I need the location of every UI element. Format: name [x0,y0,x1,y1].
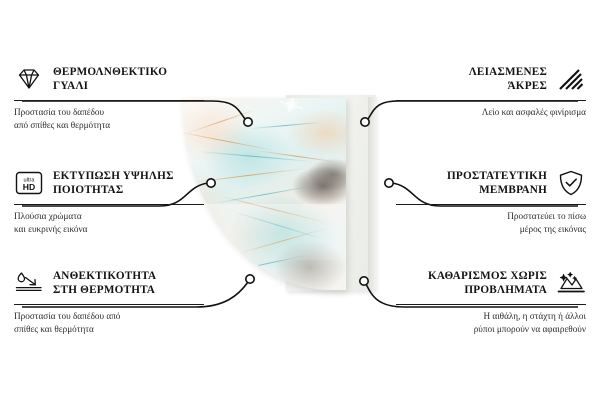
feature-subtitle: Πλούσια χρώματα και ευκρινής εικόνα [14,210,204,234]
feature-header: ΘΕΡΜΟΛΝΘΕΚΤΙΚΟ ΓΥΑΛΙ [14,62,204,96]
infographic-canvas: ΘΕΡΜΟΛΝΘΕΚΤΙΚΟ ΓΥΑΛΙ Προστασία του δαπέδ… [0,0,600,400]
feature-subtitle: Προστασία του δαπέδου από σπίθες και θερ… [14,310,204,334]
diagonal-lines-icon [556,64,586,94]
sparkle-clean-icon [556,268,586,298]
feature-header: ΑΝΘΕΚΤΙΚΟΤΗΤΑ ΣΤΗ ΘΕΡΜΟΤΗΤΑ [14,266,204,300]
feature-subtitle: Λείο και ασφαλές φινίρισμα [396,106,586,118]
feature-trouble-free-cleaning: ΚΑΘΑΡΙΣΜΟΣ ΧΩΡΙΣ ΠΡΟΒΛΗΜΑΤΑ Η αιθάλη, η … [396,266,586,335]
feature-title: ΕΚΤΥΠΩΣΗ ΥΨΗΛΗΣ ΠΟΙΟΤΗΤΑΣ [53,169,174,198]
diamond-icon [14,64,44,94]
feature-divider [396,100,586,101]
feature-subtitle: Προστασία του δαπέδου από σπίθες και θερ… [14,106,204,130]
feature-divider [14,100,204,101]
feature-heat-resistance: ΑΝΘΕΚΤΙΚΟΤΗΤΑ ΣΤΗ ΘΕΡΜΟΤΗΤΑ Προστασία το… [14,266,204,335]
feature-divider [396,304,586,305]
feature-polished-edges: ΛΕΙΑΣΜΕΝΕΣ ΆΚΡΕΣ Λείο και ασφαλές φινίρι… [396,62,586,119]
feature-protective-membrane: ΠΡΟΣΤΑΤΕΥΤΙΚΗ ΜΕΜΒΡΑΝΗ Προστατεύει το πί… [396,166,586,235]
feature-header: ΚΑΘΑΡΙΣΜΟΣ ΧΩΡΙΣ ΠΡΟΒΛΗΜΑΤΑ [396,266,586,300]
feature-divider [14,304,204,305]
feature-header: ΛΕΙΑΣΜΕΝΕΣ ΆΚΡΕΣ [396,62,586,96]
feature-subtitle: Προστατεύει το πίσω μέρος της εικόνας [396,210,586,234]
feature-thermal-resistant-glass: ΘΕΡΜΟΛΝΘΕΚΤΙΚΟ ΓΥΑΛΙ Προστασία του δαπέδ… [14,62,204,131]
feature-header: ultra HD ΕΚΤΥΠΩΣΗ ΥΨΗΛΗΣ ΠΟΙΟΤΗΤΑΣ [14,166,204,200]
feature-title: ΠΡΟΣΤΑΤΕΥΤΙΚΗ ΜΕΜΒΡΑΝΗ [447,169,547,198]
shield-check-icon [556,168,586,198]
feature-title: ΛΕΙΑΣΜΕΝΕΣ ΆΚΡΕΣ [469,65,547,94]
feature-title: ΘΕΡΜΟΛΝΘΕΚΤΙΚΟ ΓΥΑΛΙ [53,65,167,94]
svg-text:HD: HD [23,182,35,192]
feature-subtitle: Η αιθάλη, η στάχτη ή άλλοι ρύποι μπορούν… [396,310,586,334]
feature-title: ΚΑΘΑΡΙΣΜΟΣ ΧΩΡΙΣ ΠΡΟΒΛΗΜΑΤΑ [428,269,547,298]
ultra-hd-icon: ultra HD [14,168,44,198]
feature-divider [14,204,204,205]
feature-title: ΑΝΘΕΚΤΙΚΟΤΗΤΑ ΣΤΗ ΘΕΡΜΟΤΗΤΑ [53,269,156,298]
flame-on-surface-icon [14,268,44,298]
feature-header: ΠΡΟΣΤΑΤΕΥΤΙΚΗ ΜΕΜΒΡΑΝΗ [396,166,586,200]
feature-high-quality-print: ultra HD ΕΚΤΥΠΩΣΗ ΥΨΗΛΗΣ ΠΟΙΟΤΗΤΑΣ Πλούσ… [14,166,204,235]
feature-divider [396,204,586,205]
